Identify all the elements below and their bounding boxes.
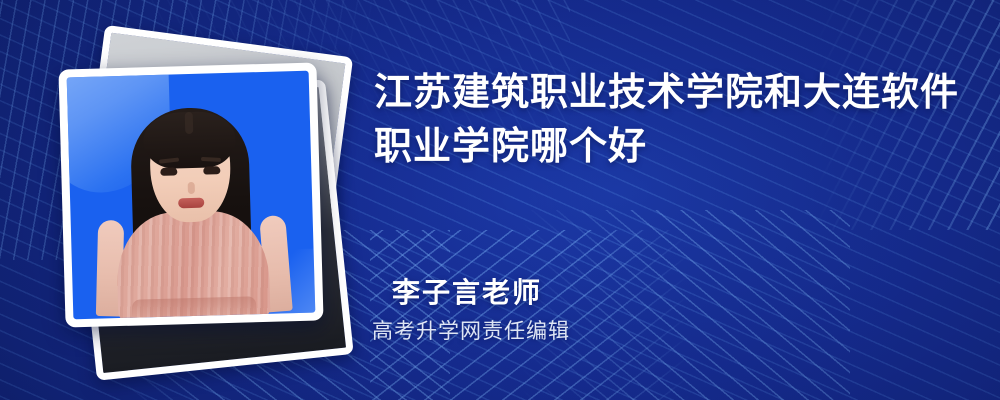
lips <box>178 198 204 209</box>
article-cover-banner: 江苏建筑职业技术学院和大连软件职业学院哪个好 李子言老师 高考升学网责任编辑 <box>0 0 1000 400</box>
author-byline: 李子言老师 高考升学网责任编辑 <box>392 274 912 346</box>
eye-left <box>160 167 177 175</box>
nose <box>188 182 195 194</box>
hair-parting <box>185 112 194 134</box>
portrait-subject <box>67 71 316 320</box>
author-portrait-photo <box>67 71 316 320</box>
eye-right <box>203 166 220 174</box>
photo-stack <box>52 46 352 356</box>
photo-card-front <box>58 62 323 327</box>
dress-waistband <box>132 296 257 319</box>
headline-block: 江苏建筑职业技术学院和大连软件职业学院哪个好 <box>374 66 964 174</box>
article-headline: 江苏建筑职业技术学院和大连软件职业学院哪个好 <box>374 66 964 174</box>
author-name: 李子言老师 <box>392 274 912 312</box>
author-role: 高考升学网责任编辑 <box>372 318 912 346</box>
